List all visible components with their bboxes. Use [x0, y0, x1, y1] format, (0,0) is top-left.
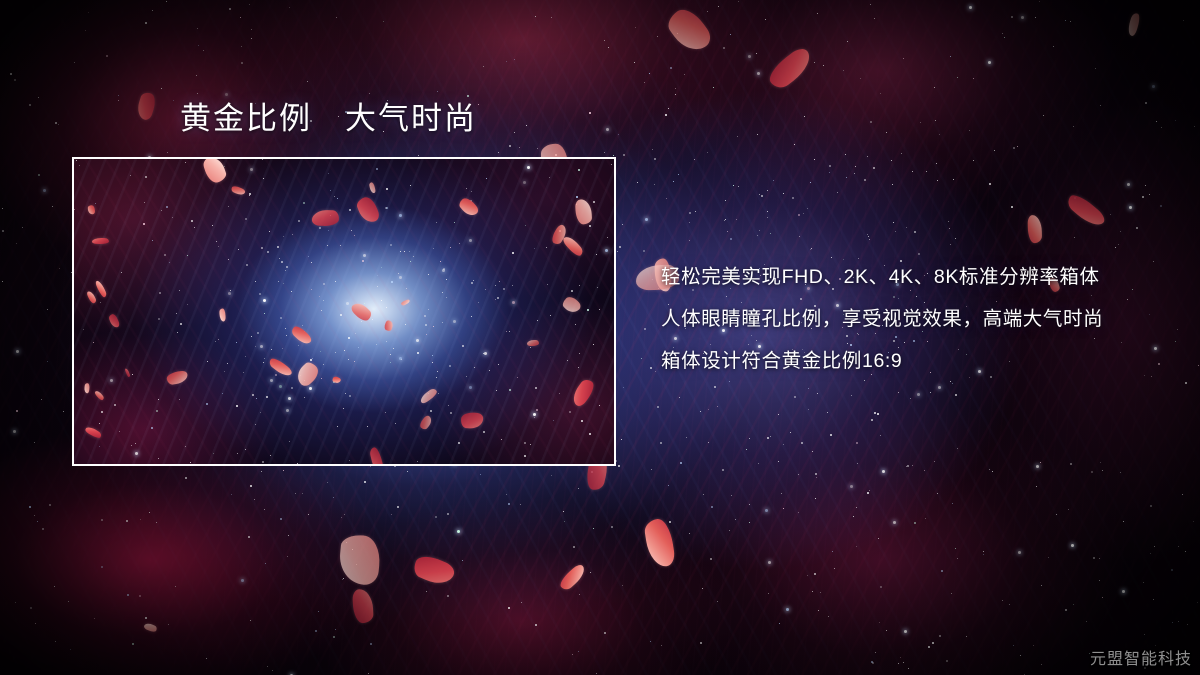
flower-petal: [338, 533, 382, 585]
feature-description: 轻松完美实现FHD、2K、4K、8K标准分辨率箱体 人体眼睛瞳孔比例，享受视觉效…: [661, 256, 1171, 382]
description-line-2: 人体眼睛瞳孔比例，享受视觉效果，高端大气时尚: [661, 298, 1171, 340]
flower-petal: [411, 551, 457, 589]
flower-petal: [143, 621, 158, 633]
showcase-image-frame[interactable]: [72, 157, 616, 466]
flower-petal: [352, 588, 374, 623]
frame-nebula-filaments: [74, 159, 614, 464]
flower-petal: [558, 562, 589, 591]
flower-petal: [764, 45, 816, 93]
flower-petal: [664, 4, 715, 58]
watermark-label: 元盟智能科技: [1090, 645, 1192, 669]
page-title: 黄金比例 大气时尚: [180, 100, 477, 139]
slide-canvas: 黄金比例 大气时尚 轻松完美实现FHD、2K、4K、8K标准分辨率箱体 人体眼睛…: [0, 0, 1200, 675]
flower-petal: [135, 91, 159, 122]
flower-petal: [643, 518, 676, 569]
description-line-3: 箱体设计符合黄金比例16:9: [661, 340, 1171, 382]
flower-petal: [1126, 12, 1141, 37]
description-line-1: 轻松完美实现FHD、2K、4K、8K标准分辨率箱体: [661, 256, 1171, 298]
flower-petal: [1065, 190, 1108, 230]
flower-petal: [1027, 215, 1041, 243]
